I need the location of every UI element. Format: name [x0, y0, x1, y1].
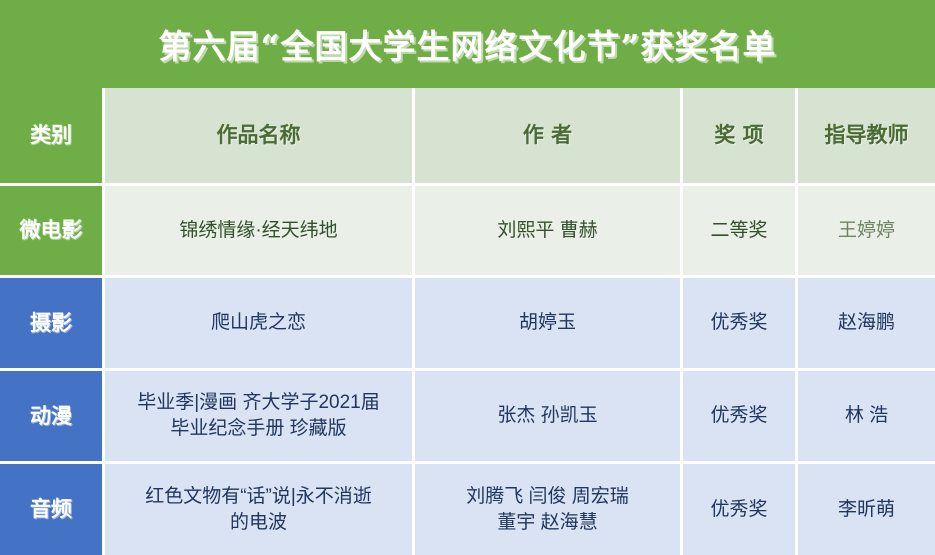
cell-author: 张杰 孙凯玉	[415, 371, 683, 464]
cell-category: 动漫	[0, 371, 105, 464]
column-header-teacher: 指导教师	[798, 88, 935, 186]
cell-category: 音频	[0, 464, 105, 555]
column-header-work: 作品名称	[105, 88, 415, 186]
cell-work: 毕业季|漫画 齐大学子2021届 毕业纪念手册 珍藏版	[105, 371, 415, 464]
column-header-category: 类别	[0, 88, 105, 186]
cell-category: 微电影	[0, 186, 105, 278]
table-row: 动漫 毕业季|漫画 齐大学子2021届 毕业纪念手册 珍藏版 张杰 孙凯玉 优秀…	[0, 371, 935, 464]
table-row: 音频 红色文物有“话”说|永不消逝 的电波 刘腾飞 闫俊 周宏瑞 董宇 赵海慧 …	[0, 464, 935, 555]
cell-category: 摄影	[0, 278, 105, 371]
page-title: 第六届“全国大学生网络文化节”获奖名单	[159, 20, 777, 68]
cell-author: 刘熙平 曹赫	[415, 186, 683, 278]
column-header-author: 作 者	[415, 88, 683, 186]
award-table: 类别 作品名称 作 者 奖 项 指导教师 微电影 锦绣情缘·经天纬地 刘熙平 曹…	[0, 88, 935, 555]
award-list-page: 第六届“全国大学生网络文化节”获奖名单 类别 作品名称 作 者 奖 项 指导教师…	[0, 0, 935, 555]
cell-author: 刘腾飞 闫俊 周宏瑞 董宇 赵海慧	[415, 464, 683, 555]
cell-prize: 优秀奖	[683, 464, 798, 555]
cell-teacher: 李昕萌	[798, 464, 935, 555]
cell-prize: 优秀奖	[683, 278, 798, 371]
cell-teacher: 赵海鹏	[798, 278, 935, 371]
table-header-row: 类别 作品名称 作 者 奖 项 指导教师	[0, 88, 935, 186]
cell-prize: 二等奖	[683, 186, 798, 278]
cell-prize: 优秀奖	[683, 371, 798, 464]
cell-author: 胡婷玉	[415, 278, 683, 371]
cell-teacher: 王婷婷	[798, 186, 935, 278]
column-header-prize: 奖 项	[683, 88, 798, 186]
cell-work: 爬山虎之恋	[105, 278, 415, 371]
table-row: 摄影 爬山虎之恋 胡婷玉 优秀奖 赵海鹏	[0, 278, 935, 371]
title-banner: 第六届“全国大学生网络文化节”获奖名单	[0, 0, 935, 88]
cell-teacher: 林 浩	[798, 371, 935, 464]
cell-work: 锦绣情缘·经天纬地	[105, 186, 415, 278]
cell-work: 红色文物有“话”说|永不消逝 的电波	[105, 464, 415, 555]
table-row: 微电影 锦绣情缘·经天纬地 刘熙平 曹赫 二等奖 王婷婷	[0, 186, 935, 278]
